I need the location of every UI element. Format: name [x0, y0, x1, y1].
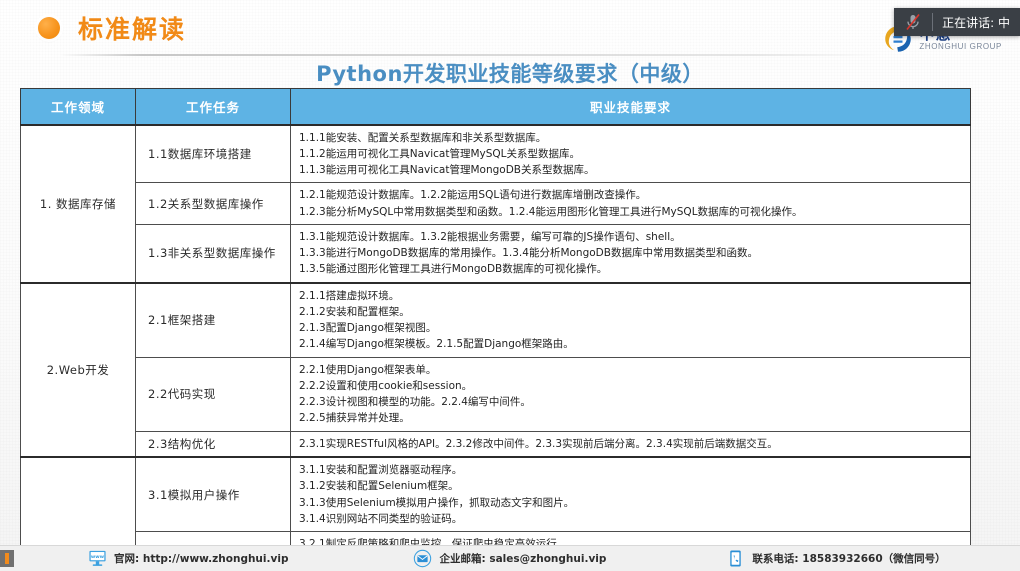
table-row: 2.3结构优化2.3.1实现RESTful风格的API。2.3.2修改中间件。2…	[21, 431, 971, 457]
skill-line: 1.1.1能安装、配置关系型数据库和非关系型数据库。	[299, 130, 964, 146]
skill-line: 1.3.1能规范设计数据库。1.3.2能根据业务需要，编写可靠的JS操作语句、s…	[299, 229, 964, 245]
orange-dot-icon	[38, 17, 60, 39]
footer-phone: 联系电话: 18583932660（微信同号）	[726, 549, 945, 568]
speaking-status-text: 正在讲话: 中	[942, 14, 1010, 31]
skill-requirement-cell: 1.2.1能规范设计数据库。1.2.2能运用SQL语句进行数据库增删改查操作。1…	[291, 183, 971, 225]
work-task-cell: 1.2关系型数据库操作	[136, 183, 291, 225]
table-body: 1. 数据库存储1.1数据库环境搭建1.1.1能安装、配置关系型数据库和非关系型…	[21, 125, 971, 571]
footer-email: 企业邮箱: sales@zhonghui.vip	[413, 549, 606, 568]
table-row: 1.3非关系型数据库操作1.3.1能规范设计数据库。1.3.2能根据业务需要，编…	[21, 224, 971, 282]
speaking-status-bar[interactable]: 正在讲话: 中	[894, 8, 1020, 36]
header-divider	[60, 54, 880, 56]
column-header-work-area: 工作领域	[21, 89, 136, 125]
skill-line: 2.1.2安装和配置框架。	[299, 304, 964, 320]
skill-requirement-cell: 3.1.1安装和配置浏览器驱动程序。3.1.2安装和配置Selenium框架。3…	[291, 457, 971, 532]
work-task-cell: 1.3非关系型数据库操作	[136, 224, 291, 282]
skills-requirements-table: 工作领域 工作任务 职业技能要求 1. 数据库存储1.1数据库环境搭建1.1.1…	[20, 88, 971, 571]
work-area-cell: 1. 数据库存储	[21, 125, 136, 283]
table-header-row: 工作领域 工作任务 职业技能要求	[21, 89, 971, 125]
table-row: 2.2代码实现2.2.1使用Django框架表单。2.2.2设置和使用cooki…	[21, 357, 971, 431]
skill-line: 1.1.2能运用可视化工具Navicat管理MySQL关系型数据库。	[299, 146, 964, 162]
footer-email-label: 企业邮箱: sales@zhonghui.vip	[439, 551, 606, 566]
page-title: 标准解读	[78, 10, 186, 46]
column-header-work-task: 工作任务	[136, 89, 291, 125]
work-area-cell: 2.Web开发	[21, 283, 136, 457]
microphone-muted-icon[interactable]	[894, 8, 932, 36]
skill-line: 2.2.1使用Django框架表单。	[299, 362, 964, 378]
skill-line: 1.2.1能规范设计数据库。1.2.2能运用SQL语句进行数据库增删改查操作。	[299, 187, 964, 203]
footer-website-label: 官网: http://www.zhonghui.vip	[114, 551, 288, 566]
skill-line: 1.3.5能通过图形化管理工具进行MongoDB数据库的可视化操作。	[299, 261, 964, 277]
skill-line: 2.1.4编写Django框架模板。2.1.5配置Django框架路由。	[299, 336, 964, 352]
skill-line: 2.2.5捕获异常并处理。	[299, 410, 964, 426]
skill-line: 3.1.3使用Selenium模拟用户操作，抓取动态文字和图片。	[299, 495, 964, 511]
skill-requirement-cell: 1.3.1能规范设计数据库。1.3.2能根据业务需要，编写可靠的JS操作语句、s…	[291, 224, 971, 282]
skill-line: 2.1.1搭建虚拟环境。	[299, 288, 964, 304]
work-task-cell: 2.3结构优化	[136, 431, 291, 457]
skill-line: 1.1.3能运用可视化工具Navicat管理MongoDB关系型数据库。	[299, 162, 964, 178]
skill-line: 3.1.2安装和配置Selenium框架。	[299, 478, 964, 494]
slide-footer: www 官网: http://www.zhonghui.vip 企业邮箱: sa…	[0, 545, 1020, 571]
work-task-cell: 1.1数据库环境搭建	[136, 125, 291, 183]
brand-name-en: ZHONGHUI GROUP	[919, 43, 1002, 51]
table-row: 1. 数据库存储1.1数据库环境搭建1.1.1能安装、配置关系型数据库和非关系型…	[21, 125, 971, 183]
skill-line: 2.3.1实现RESTful风格的API。2.3.2修改中间件。2.3.3实现前…	[299, 436, 964, 452]
skill-line: 2.2.2设置和使用cookie和session。	[299, 378, 964, 394]
table-title: Python开发职业技能等级要求（中级）	[0, 58, 1020, 88]
work-task-cell: 2.1框架搭建	[136, 283, 291, 358]
presentation-corner-marker[interactable]	[0, 550, 14, 567]
table-row: 1.2关系型数据库操作1.2.1能规范设计数据库。1.2.2能运用SQL语句进行…	[21, 183, 971, 225]
table-row: 2.Web开发2.1框架搭建2.1.1搭建虚拟环境。2.1.2安装和配置框架。2…	[21, 283, 971, 358]
skill-requirement-cell: 1.1.1能安装、配置关系型数据库和非关系型数据库。1.1.2能运用可视化工具N…	[291, 125, 971, 183]
skill-line: 2.1.3配置Django框架视图。	[299, 320, 964, 336]
monitor-www-icon: www	[88, 549, 107, 568]
phone-icon	[726, 549, 745, 568]
slide-header: 标准解读	[0, 0, 1020, 55]
skill-line: 1.3.3能进行MongoDB数据库的常用操作。1.3.4能分析MongoDB数…	[299, 245, 964, 261]
table-row: 3. 网络爬虫分析3.1模拟用户操作3.1.1安装和配置浏览器驱动程序。3.1.…	[21, 457, 971, 532]
footer-phone-label: 联系电话: 18583932660（微信同号）	[752, 551, 945, 566]
skill-line: 3.1.4识别网站不同类型的验证码。	[299, 511, 964, 527]
skill-requirement-cell: 2.1.1搭建虚拟环境。2.1.2安装和配置框架。2.1.3配置Django框架…	[291, 283, 971, 358]
envelope-icon	[413, 549, 432, 568]
skill-line: 2.2.3设计视图和模型的功能。2.2.4编写中间件。	[299, 394, 964, 410]
footer-website: www 官网: http://www.zhonghui.vip	[88, 549, 288, 568]
skill-requirement-cell: 2.3.1实现RESTful风格的API。2.3.2修改中间件。2.3.3实现前…	[291, 431, 971, 457]
column-header-skill-req: 职业技能要求	[291, 89, 971, 125]
work-task-cell: 3.1模拟用户操作	[136, 457, 291, 532]
skill-line: 1.2.3能分析MySQL中常用数据类型和函数。1.2.4能运用图形化管理工具进…	[299, 204, 964, 220]
overlay-divider	[932, 13, 933, 31]
skill-line: 3.1.1安装和配置浏览器驱动程序。	[299, 462, 964, 478]
work-task-cell: 2.2代码实现	[136, 357, 291, 431]
skill-requirement-cell: 2.2.1使用Django框架表单。2.2.2设置和使用cookie和sessi…	[291, 357, 971, 431]
svg-text:www: www	[91, 555, 105, 560]
